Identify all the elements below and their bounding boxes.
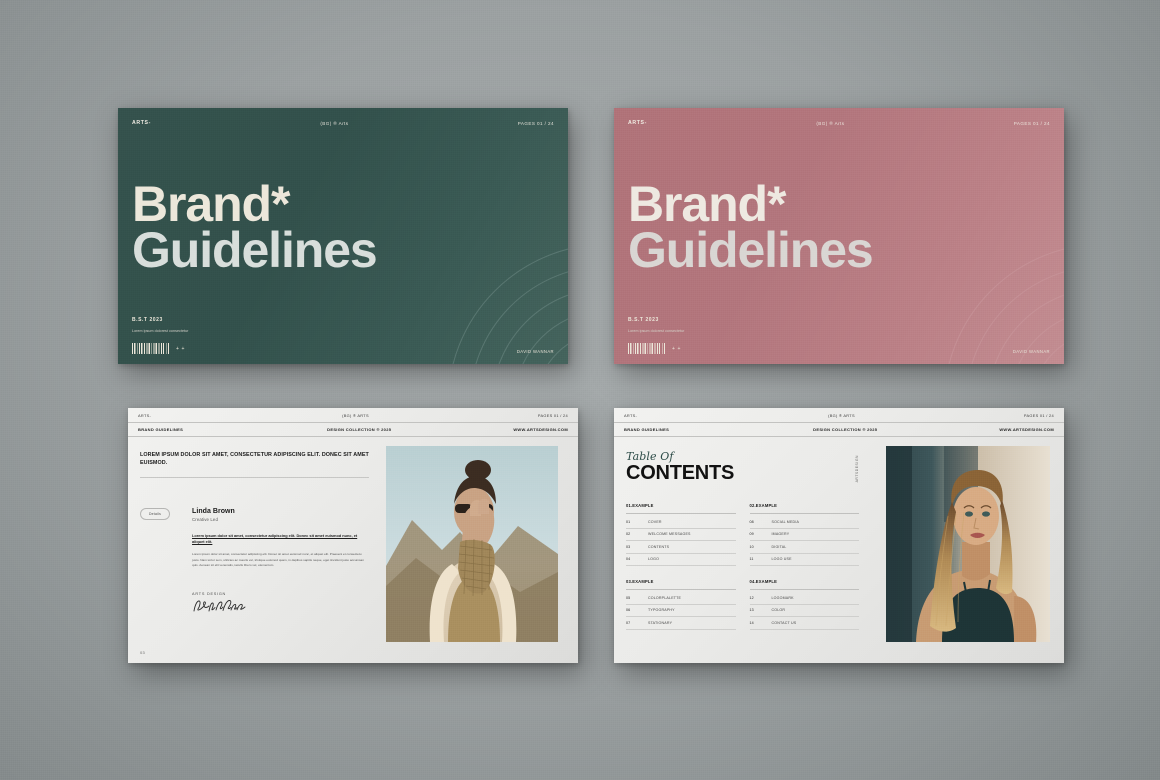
toc-item-number: 13 bbox=[750, 608, 772, 612]
cover-plus-mark: + + bbox=[672, 346, 681, 352]
toc-block: 01.EXAMPLE 01 COVER 02 WELCOME MESSAGES … bbox=[626, 503, 736, 566]
page-header-doc-title: BRAND GUIDELINES bbox=[624, 427, 669, 432]
page-header-mid: (BG) ® ARTS bbox=[342, 413, 369, 418]
inner-page-card-04[interactable]: ARTS- (BG) ® ARTS PAGES 01 / 24 BRAND GU… bbox=[614, 408, 1064, 663]
vertical-side-text: ARTSDESIGN bbox=[855, 455, 859, 482]
list-item[interactable]: 07 STATIONARY bbox=[626, 617, 736, 630]
page-header-pages: PAGES 01 / 24 bbox=[1024, 413, 1054, 418]
cover-blurb: Lorem ipsum dolorest consectetur bbox=[132, 329, 252, 334]
toc-item-number: 12 bbox=[750, 596, 772, 600]
body-paragraph: Lorem ipsum dolor sit amet, consectetur … bbox=[192, 552, 369, 568]
toc-block: 03.EXAMPLE 05 COLORPLALETTE 06 TYPOGRAPH… bbox=[626, 579, 736, 630]
toc-script-title: Table Of bbox=[626, 451, 859, 462]
toc-item-number: 10 bbox=[750, 545, 772, 549]
toc-item-label: WELCOME MESSAGES bbox=[648, 532, 691, 536]
inner-page-card-03[interactable]: ARTS- (BG) ® ARTS PAGES 01 / 24 BRAND GU… bbox=[128, 408, 578, 663]
page-header-bottom: BRAND GUIDELINES DESIGN COLLECTION ® 202… bbox=[128, 423, 578, 437]
person-name: Linda Brown bbox=[192, 508, 369, 515]
toc-item-number: 06 bbox=[626, 608, 648, 612]
page-header-collection: DESIGN COLLECTION ® 2025 bbox=[327, 427, 391, 432]
toc-item-number: 02 bbox=[626, 532, 648, 536]
cover-header: ARTS- (BG) ® Arts PAGES 01 / 24 bbox=[614, 108, 1064, 126]
page-heading: LOREM IPSUM DOLOR SIT AMET, CONSECTETUR … bbox=[140, 451, 369, 478]
toc-item-label: CONTACT US bbox=[772, 621, 797, 625]
page-header-top: ARTS- (BG) ® ARTS PAGES 01 / 24 bbox=[128, 408, 578, 423]
handwritten-signature-icon bbox=[192, 598, 248, 614]
toc-item-label: LOGO USE bbox=[772, 557, 792, 561]
page-header-doc-title: BRAND GUIDELINES bbox=[138, 427, 183, 432]
toc-item-label: SOCIAL MEDIA bbox=[772, 520, 800, 524]
toc-block: 04.EXAMPLE 12 LOGOMARK 13 COLOR 14 CONTA… bbox=[750, 579, 860, 630]
toc-item-number: 11 bbox=[750, 557, 772, 561]
toc-item-number: 07 bbox=[626, 621, 648, 625]
cover-year: B.S.T 2023 bbox=[132, 317, 554, 323]
portrait-photo-desert bbox=[386, 446, 558, 642]
toc-item-number: 03 bbox=[626, 545, 648, 549]
toc-item-number: 14 bbox=[750, 621, 772, 625]
signature-block: ARTS DESIGN bbox=[192, 592, 369, 614]
toc-item-label: IMAGERY bbox=[772, 532, 790, 536]
portrait-photo-blonde bbox=[886, 446, 1050, 642]
toc-block-title: 04.EXAMPLE bbox=[750, 579, 860, 590]
list-item[interactable]: 12 LOGOMARK bbox=[750, 592, 860, 605]
toc-item-number: 04 bbox=[626, 557, 648, 561]
page-header-bottom: BRAND GUIDELINES DESIGN COLLECTION ® 202… bbox=[614, 423, 1064, 437]
list-item[interactable]: 03 CONTENTS bbox=[626, 541, 736, 554]
toc-item-label: COLOR bbox=[772, 608, 786, 612]
barcode-icon bbox=[132, 343, 170, 354]
page-header-website: WWW.ARTSDESIGN.COM bbox=[999, 427, 1054, 432]
cover-footer: B.S.T 2023 Lorem ipsum dolorest consecte… bbox=[118, 317, 568, 364]
person-role: Creative Led bbox=[192, 517, 369, 522]
toc-item-number: 01 bbox=[626, 520, 648, 524]
toc-item-number: 05 bbox=[626, 596, 648, 600]
lead-paragraph: Lorem ipsum dolor sit amet, consectetur … bbox=[192, 533, 369, 546]
list-item[interactable]: 09 IMAGERY bbox=[750, 529, 860, 542]
toc-item-label: LOGO bbox=[648, 557, 659, 561]
page-header-website: WWW.ARTSDESIGN.COM bbox=[513, 427, 568, 432]
toc-item-label: STATIONARY bbox=[648, 621, 672, 625]
toc-item-label: COVER bbox=[648, 520, 662, 524]
list-item[interactable]: 13 COLOR bbox=[750, 605, 860, 618]
cover-meta-mid: (BG) ® Arts bbox=[320, 121, 348, 126]
page-header-brand: ARTS- bbox=[138, 413, 151, 418]
toc-item-label: COLORPLALETTE bbox=[648, 596, 681, 600]
toc-item-number: 09 bbox=[750, 532, 772, 536]
details-button[interactable]: Details bbox=[140, 508, 170, 520]
list-item[interactable]: 11 LOGO USE bbox=[750, 554, 860, 567]
list-item[interactable]: 06 TYPOGRAPHY bbox=[626, 605, 736, 618]
page-header-brand: ARTS- bbox=[624, 413, 637, 418]
page-header-collection: DESIGN COLLECTION ® 2025 bbox=[813, 427, 877, 432]
toc-block-title: 01.EXAMPLE bbox=[626, 503, 736, 514]
brand-mark: ARTS- bbox=[628, 120, 647, 126]
page-header-mid: (BG) ® ARTS bbox=[828, 413, 855, 418]
toc-item-label: LOGOMARK bbox=[772, 596, 794, 600]
cover-page-count: PAGES 01 / 24 bbox=[518, 121, 554, 126]
list-item[interactable]: 10 DIGITAL bbox=[750, 541, 860, 554]
list-item[interactable]: 02 WELCOME MESSAGES bbox=[626, 529, 736, 542]
cover-meta-mid: (BG) ® Arts bbox=[816, 121, 844, 126]
toc-main-title: CONTENTS bbox=[626, 463, 859, 484]
barcode-icon bbox=[628, 343, 666, 354]
cover-footer: B.S.T 2023 Lorem ipsum dolorest consecte… bbox=[614, 317, 1064, 364]
cover-card-teal[interactable]: ARTS- (BG) ® Arts PAGES 01 / 24 Brand* G… bbox=[118, 108, 568, 364]
cover-plus-mark: + + bbox=[176, 346, 185, 352]
list-item[interactable]: 04 LOGO bbox=[626, 554, 736, 567]
cover-blurb: Lorem ipsum dolorest consectetur bbox=[628, 329, 748, 334]
page-number: 03 bbox=[140, 650, 145, 655]
page-header-pages: PAGES 01 / 24 bbox=[538, 413, 568, 418]
cover-page-count: PAGES 01 / 24 bbox=[1014, 121, 1050, 126]
toc-item-number: 08 bbox=[750, 520, 772, 524]
toc-block: 02.EXAMPLE 08 SOCIAL MEDIA 09 IMAGERY 10… bbox=[750, 503, 860, 566]
cover-year: B.S.T 2023 bbox=[628, 317, 1050, 323]
toc-item-label: TYPOGRAPHY bbox=[648, 608, 675, 612]
list-item[interactable]: 01 COVER bbox=[626, 516, 736, 529]
list-item[interactable]: 05 COLORPLALETTE bbox=[626, 592, 736, 605]
toc-grid: 01.EXAMPLE 01 COVER 02 WELCOME MESSAGES … bbox=[626, 503, 859, 630]
signature-label: ARTS DESIGN bbox=[192, 592, 369, 596]
cover-card-rose[interactable]: ARTS- (BG) ® Arts PAGES 01 / 24 Brand* G… bbox=[614, 108, 1064, 364]
toc-item-label: DIGITAL bbox=[772, 545, 787, 549]
cover-author: DAVID WANNAR bbox=[1013, 349, 1050, 354]
brand-mark: ARTS- bbox=[132, 120, 151, 126]
list-item[interactable]: 08 SOCIAL MEDIA bbox=[750, 516, 860, 529]
toc-block-title: 03.EXAMPLE bbox=[626, 579, 736, 590]
cover-header: ARTS- (BG) ® Arts PAGES 01 / 24 bbox=[118, 108, 568, 126]
cover-author: DAVID WANNAR bbox=[517, 349, 554, 354]
toc-item-label: CONTENTS bbox=[648, 545, 669, 549]
toc-block-title: 02.EXAMPLE bbox=[750, 503, 860, 514]
list-item[interactable]: 14 CONTACT US bbox=[750, 617, 860, 630]
page-header-top: ARTS- (BG) ® ARTS PAGES 01 / 24 bbox=[614, 408, 1064, 423]
